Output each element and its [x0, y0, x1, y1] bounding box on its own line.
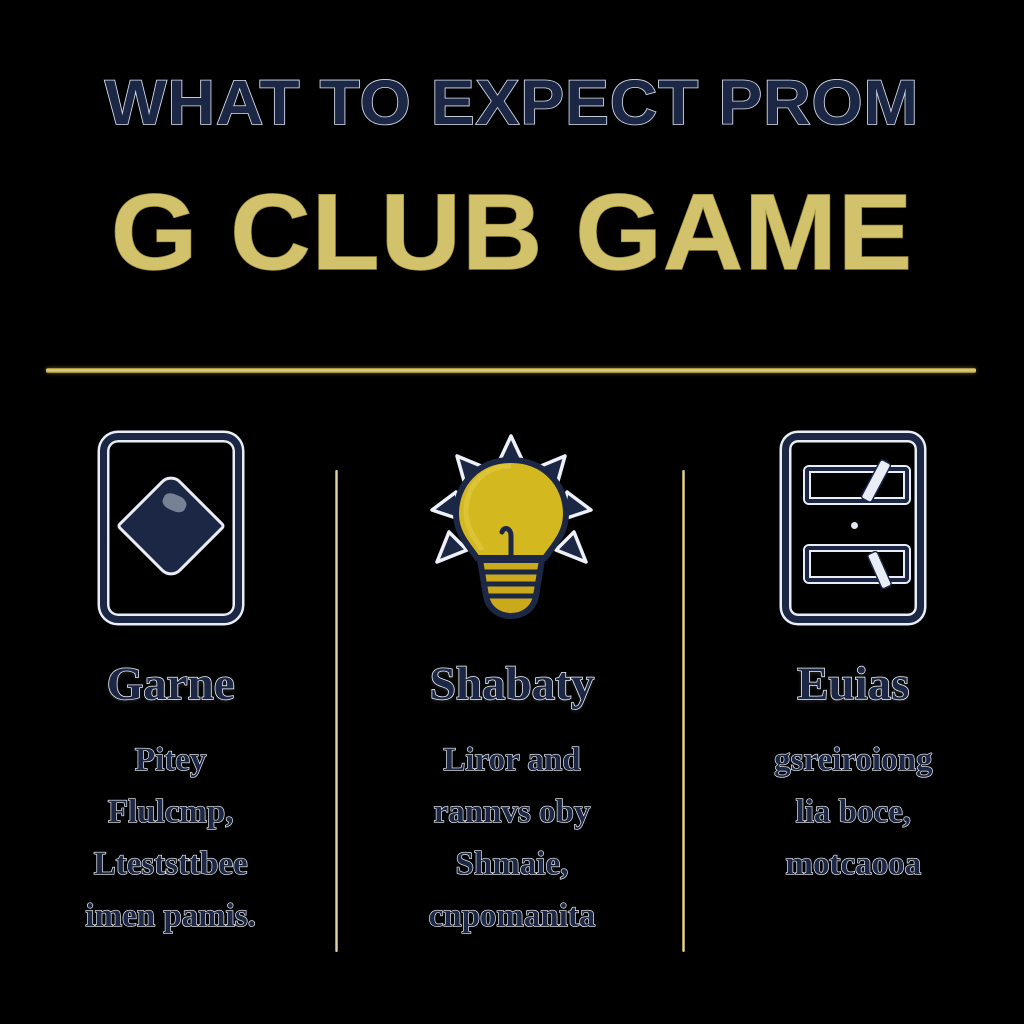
column-2-body-line-3: Shmaie, — [429, 838, 596, 890]
document-card-icon — [782, 433, 924, 623]
document-dot — [851, 522, 858, 529]
column-1-body-line-4: imen pamis. — [85, 890, 256, 942]
playing-card-diamond-icon — [100, 433, 242, 623]
column-3-body-line-3: motcaooa — [774, 838, 932, 890]
icon-slot-2 — [424, 420, 599, 635]
poster-canvas: WHAT TO EXPECT PROM G CLUB GAME Garne Pi… — [0, 0, 1024, 1024]
poster-main-title: G CLUB GAME — [0, 178, 1024, 286]
column-1-body-line-2: Flulcmp, — [85, 786, 256, 838]
column-1-title: Garne — [107, 661, 235, 708]
column-1-body: Pitey Flulcmp, Lteststtbee imen pamis. — [85, 734, 256, 942]
column-3-body-line-1: gsreiroiong — [774, 734, 932, 786]
column-2-title: Shabaty — [430, 661, 595, 708]
column-1-body-line-1: Pitey — [85, 734, 256, 786]
document-bar-bottom — [805, 546, 909, 582]
feature-column-2: Shabaty Liror and rannvs oby Shmaie, cnp… — [341, 420, 682, 980]
gold-horizontal-divider — [46, 368, 976, 373]
icon-slot-3 — [782, 420, 924, 635]
column-3-body-line-2: lia boce, — [774, 786, 932, 838]
feature-column-1: Garne Pitey Flulcmp, Lteststtbee imen pa… — [0, 420, 341, 980]
column-2-body-line-1: Liror and — [429, 734, 596, 786]
column-3-title: Euias — [797, 661, 909, 708]
diamond-shape — [116, 470, 226, 580]
column-2-body: Liror and rannvs oby Shmaie, cnpomanita — [429, 734, 596, 942]
column-2-body-line-2: rannvs oby — [429, 786, 596, 838]
lightbulb-sunburst-icon — [424, 428, 599, 628]
icon-slot-1 — [100, 420, 242, 635]
feature-columns: Garne Pitey Flulcmp, Lteststtbee imen pa… — [0, 420, 1024, 980]
column-3-body: gsreiroiong lia boce, motcaooa — [774, 734, 932, 890]
feature-column-3: Euias gsreiroiong lia boce, motcaooa — [683, 420, 1024, 980]
column-2-body-line-4: cnpomanita — [429, 890, 596, 942]
column-1-body-line-3: Lteststtbee — [85, 838, 256, 890]
document-bar-top — [805, 467, 909, 503]
poster-headline: WHAT TO EXPECT PROM — [0, 72, 1024, 135]
